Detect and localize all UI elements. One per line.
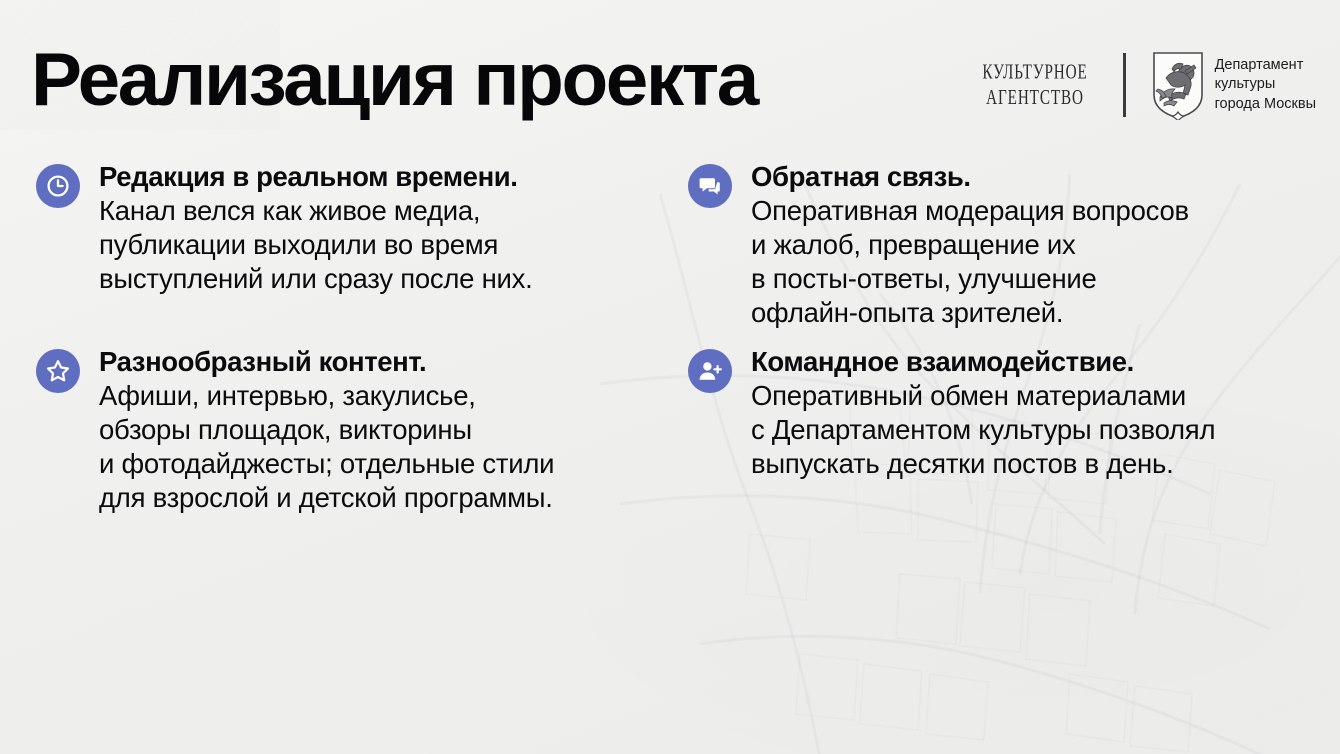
person-plus-icon xyxy=(688,349,732,393)
department-lockup: Департамент культуры города Москвы xyxy=(1152,51,1316,120)
feature-item-realtime-editing: Редакция в реальном времени. Канал велся… xyxy=(36,160,688,330)
slide-header: Реализация проекта КУЛЬТУРНОЕ АГЕНТСТВО xyxy=(0,0,1340,150)
logo-divider xyxy=(1123,53,1126,117)
feature-heading: Разнообразный контент. xyxy=(99,345,554,379)
feature-grid: Редакция в реальном времени. Канал велся… xyxy=(0,160,1340,515)
star-icon xyxy=(36,349,80,393)
agency-logo-line-2: АГЕНТСТВО xyxy=(986,85,1084,111)
moscow-coat-of-arms-icon xyxy=(1152,51,1204,120)
agency-logo-line-1: КУЛЬТУРНОЕ xyxy=(982,59,1087,85)
page-title: Реализация проекта xyxy=(31,42,757,117)
feature-text: Оперативная модерация вопросов и жалоб, … xyxy=(751,194,1189,330)
clock-icon xyxy=(36,164,80,208)
agency-logo: КУЛЬТУРНОЕ АГЕНТСТВО xyxy=(982,59,1089,111)
feature-text: Афиши, интервью, закулисье, обзоры площа… xyxy=(99,379,554,515)
department-line-2: культуры xyxy=(1215,75,1316,94)
feature-heading: Командное взаимодействие. xyxy=(751,345,1215,379)
feature-item-team-collaboration: Командное взаимодействие. Оперативный об… xyxy=(688,345,1340,515)
feature-text: Оперативный обмен материалами с Департам… xyxy=(751,379,1215,481)
feature-body: Обратная связь. Оперативная модерация во… xyxy=(751,160,1189,330)
feature-body: Разнообразный контент. Афиши, интервью, … xyxy=(99,345,554,515)
logo-lockup: КУЛЬТУРНОЕ АГЕНТСТВО xyxy=(969,47,1316,123)
chat-bubbles-icon xyxy=(688,164,732,208)
slide-canvas: Реализация проекта КУЛЬТУРНОЕ АГЕНТСТВО xyxy=(0,0,1340,754)
feature-text: Канал велся как живое медиа, публикации … xyxy=(99,194,533,296)
feature-body: Командное взаимодействие. Оперативный об… xyxy=(751,345,1215,481)
department-name: Департамент культуры города Москвы xyxy=(1215,56,1316,113)
department-line-1: Департамент xyxy=(1215,56,1316,75)
feature-item-feedback: Обратная связь. Оперативная модерация во… xyxy=(688,160,1340,330)
feature-heading: Обратная связь. xyxy=(751,160,1189,194)
department-line-3: города Москвы xyxy=(1215,95,1316,114)
feature-heading: Редакция в реальном времени. xyxy=(99,160,533,194)
feature-body: Редакция в реальном времени. Канал велся… xyxy=(99,160,533,296)
feature-item-diverse-content: Разнообразный контент. Афиши, интервью, … xyxy=(36,345,688,515)
